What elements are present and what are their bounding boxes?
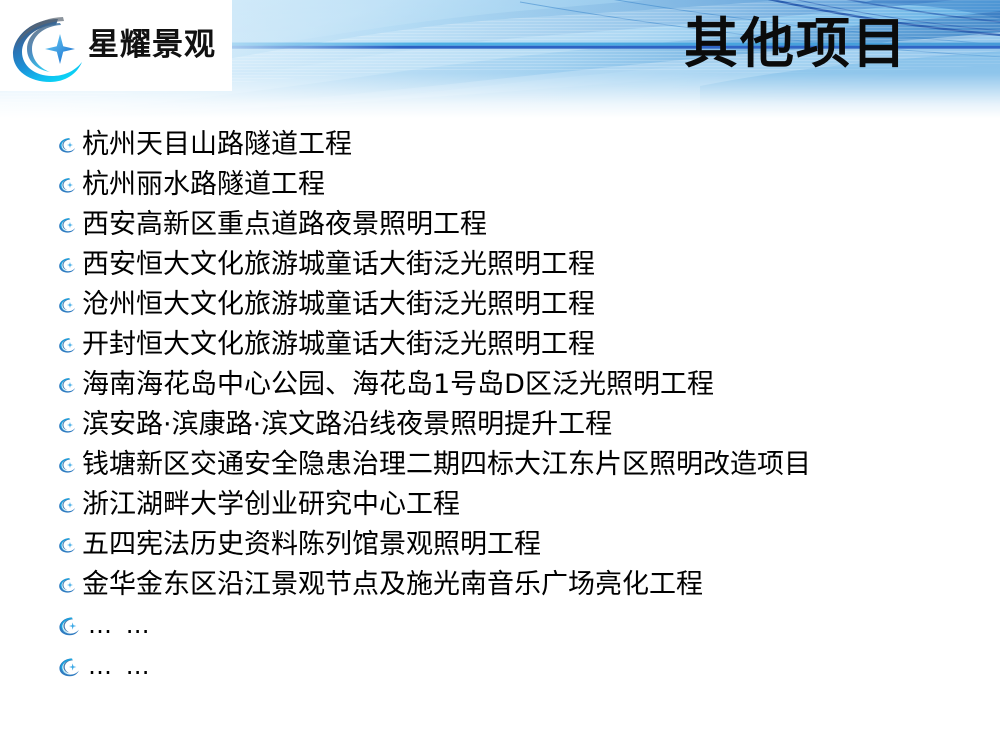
- crescent-star-bullet-icon: [58, 576, 76, 594]
- list-item-label: 金华金东区沿江景观节点及施光南音乐广场亮化工程: [82, 571, 703, 598]
- list-item: 金华金东区沿江景观节点及施光南音乐广场亮化工程: [58, 564, 978, 604]
- list-item: … …: [58, 604, 978, 645]
- list-item-label: 钱塘新区交通安全隐患治理二期四标大江东片区照明改造项目: [82, 451, 811, 478]
- list-item-label: 浙江湖畔大学创业研究中心工程: [82, 491, 460, 518]
- logo-plate: 星耀景观: [0, 0, 232, 91]
- list-item: 浙江湖畔大学创业研究中心工程: [58, 484, 978, 524]
- list-item: 杭州丽水路隧道工程: [58, 164, 978, 204]
- list-item: 杭州天目山路隧道工程: [58, 124, 978, 164]
- crescent-star-logo-icon: [8, 14, 86, 84]
- project-list: 杭州天目山路隧道工程 杭州丽水路隧道工程 西安高新区重点道路夜景照明工程 西安恒…: [58, 124, 978, 686]
- crescent-star-bullet-icon: [58, 376, 76, 394]
- list-item: 滨安路·滨康路·滨文路沿线夜景照明提升工程: [58, 404, 978, 444]
- list-item-label: 开封恒大文化旅游城童话大街泛光照明工程: [82, 331, 595, 358]
- list-item-label: 五四宪法历史资料陈列馆景观照明工程: [82, 531, 541, 558]
- header-banner: 星耀景观 其他项目: [0, 0, 1000, 118]
- list-item-label: 滨安路·滨康路·滨文路沿线夜景照明提升工程: [82, 411, 612, 438]
- list-item: 海南海花岛中心公园、海花岛1号岛D区泛光照明工程: [58, 364, 978, 404]
- crescent-star-bullet-icon: [58, 256, 76, 274]
- list-item: 五四宪法历史资料陈列馆景观照明工程: [58, 524, 978, 564]
- list-item: 西安高新区重点道路夜景照明工程: [58, 204, 978, 244]
- crescent-star-bullet-icon: [58, 176, 76, 194]
- list-item: … …: [58, 645, 978, 686]
- list-item-label: 杭州天目山路隧道工程: [82, 131, 352, 158]
- crescent-star-bullet-icon: [58, 456, 76, 474]
- list-item: 钱塘新区交通安全隐患治理二期四标大江东片区照明改造项目: [58, 444, 978, 484]
- list-item: 沧州恒大文化旅游城童话大街泛光照明工程: [58, 284, 978, 324]
- list-item-label: 沧州恒大文化旅游城童话大街泛光照明工程: [82, 291, 595, 318]
- crescent-star-bullet-icon: [58, 496, 76, 514]
- list-item-label: 海南海花岛中心公园、海花岛1号岛D区泛光照明工程: [82, 371, 714, 398]
- list-item-label: 杭州丽水路隧道工程: [82, 171, 325, 198]
- list-item-label: 西安恒大文化旅游城童话大街泛光照明工程: [82, 251, 595, 278]
- crescent-star-bullet-icon: [58, 656, 80, 678]
- slide-root: 星耀景观 其他项目 杭州天目山路隧道工程 杭州丽水路隧道工程 西安高新区重点道路…: [0, 0, 1000, 750]
- crescent-star-bullet-icon: [58, 615, 80, 637]
- crescent-star-bullet-icon: [58, 536, 76, 554]
- crescent-star-bullet-icon: [58, 296, 76, 314]
- crescent-star-bullet-icon: [58, 336, 76, 354]
- crescent-star-bullet-icon: [58, 416, 76, 434]
- company-name: 星耀景观: [88, 30, 216, 61]
- list-item-label: … …: [88, 654, 153, 678]
- page-title: 其他项目: [684, 14, 908, 73]
- list-item-label: 西安高新区重点道路夜景照明工程: [82, 211, 487, 238]
- list-item: 西安恒大文化旅游城童话大街泛光照明工程: [58, 244, 978, 284]
- list-item: 开封恒大文化旅游城童话大街泛光照明工程: [58, 324, 978, 364]
- crescent-star-bullet-icon: [58, 136, 76, 154]
- crescent-star-bullet-icon: [58, 216, 76, 234]
- list-item-label: … …: [88, 613, 153, 637]
